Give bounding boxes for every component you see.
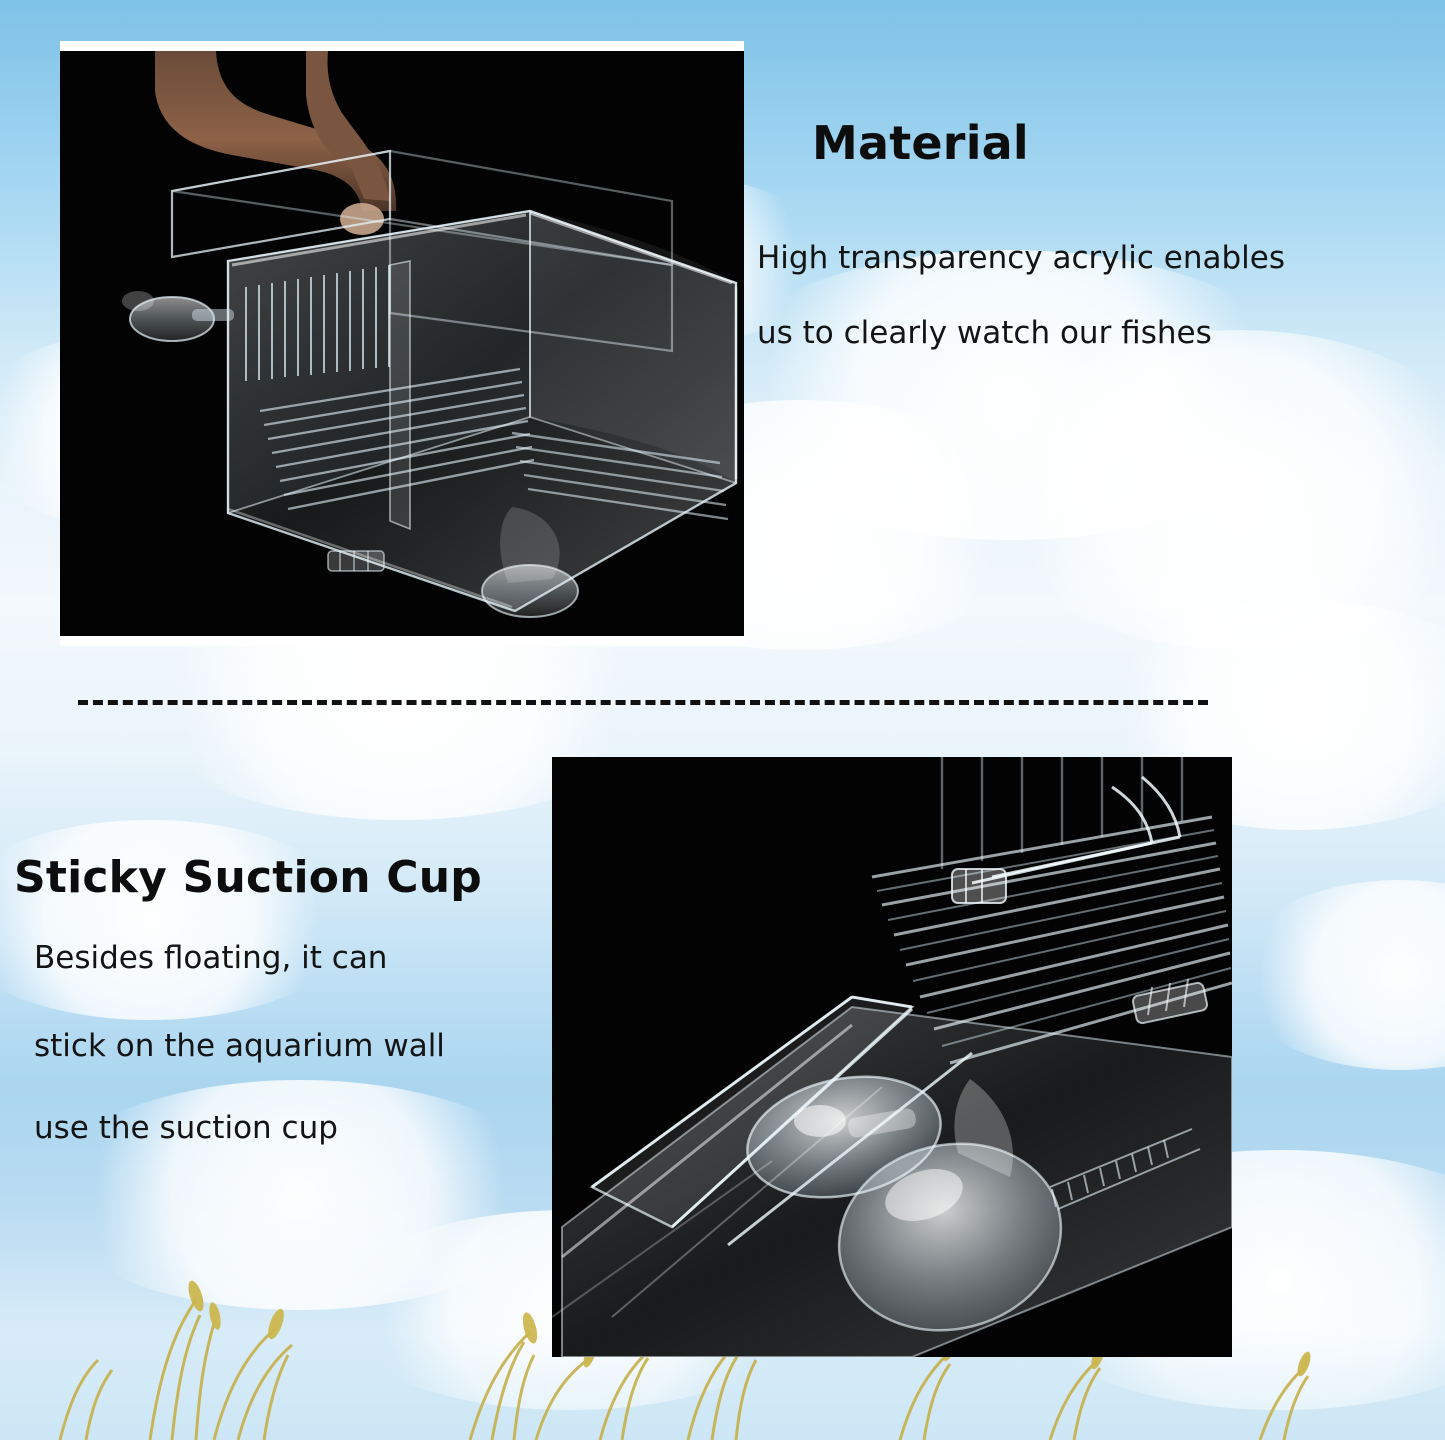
box-body bbox=[228, 211, 736, 611]
promo-poster: Material High transparency acrylic enabl… bbox=[0, 0, 1445, 1440]
acrylic-breeder-box-illustration bbox=[60, 51, 744, 636]
suction-line-2: stick on the aquarium wall bbox=[34, 1028, 445, 1064]
material-heading: Material bbox=[812, 116, 1029, 170]
material-line-2: us to clearly watch our fishes bbox=[757, 315, 1212, 351]
metal-clip bbox=[952, 869, 1006, 903]
material-line-1: High transparency acrylic enables bbox=[757, 240, 1285, 276]
suction-photo bbox=[552, 757, 1232, 1357]
material-photo-image bbox=[60, 51, 744, 636]
divider-panel bbox=[390, 261, 410, 529]
side-mounting-clip bbox=[1132, 979, 1208, 1024]
suction-line-3: use the suction cup bbox=[34, 1110, 338, 1146]
material-photo bbox=[60, 41, 744, 646]
suction-heading: Sticky Suction Cup bbox=[14, 852, 482, 903]
wire-hanger bbox=[972, 777, 1180, 883]
suction-cup-closeup-illustration bbox=[552, 757, 1232, 1357]
suction-photo-image bbox=[552, 757, 1232, 1357]
dashed-divider bbox=[78, 700, 1208, 705]
suction-line-1: Besides floating, it can bbox=[34, 940, 387, 976]
suction-cup-left bbox=[122, 291, 234, 341]
ribbed-back-wall bbox=[942, 757, 1182, 869]
